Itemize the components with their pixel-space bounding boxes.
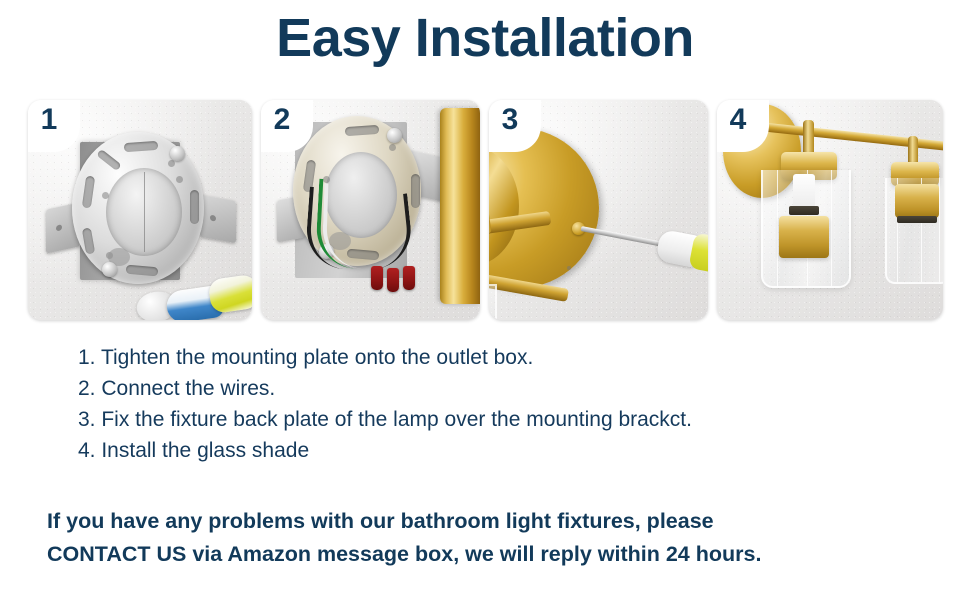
bulb-gold-body-right — [895, 184, 939, 218]
step-badge-number: 1 — [41, 105, 58, 135]
easy-installation-infographic: Easy Installation — [0, 0, 970, 600]
instructions-list: 1. Tighten the mounting plate onto the o… — [78, 342, 938, 466]
mounting-plate-1 — [66, 128, 218, 290]
step-panel-2: 2 — [261, 100, 480, 320]
step-panel-1: 1 — [28, 100, 252, 320]
wire-nut-icon — [387, 268, 399, 292]
socket-band-dark — [789, 206, 819, 215]
plate-slot — [126, 265, 159, 277]
screw-icon — [170, 146, 185, 161]
contact-note-line-2: CONTACT US via Amazon message box, we wi… — [47, 538, 937, 571]
glass-highlight — [777, 170, 778, 286]
screwdriver-grip-yellow — [208, 274, 252, 314]
step-badge-4: 4 — [717, 100, 769, 152]
instruction-line-3: 3. Fix the fixture back plate of the lam… — [78, 404, 938, 435]
contact-note: If you have any problems with our bathro… — [47, 505, 937, 571]
page-title: Easy Installation — [0, 6, 970, 72]
step-badge-2: 2 — [261, 100, 313, 152]
plate-slot — [190, 190, 199, 224]
step-badge-number: 3 — [502, 105, 519, 135]
instruction-line-2: 2. Connect the wires. — [78, 373, 938, 404]
plate-hole-dot — [168, 160, 175, 167]
wire-nut-icon — [371, 266, 383, 290]
contact-note-line-1: If you have any problems with our bathro… — [47, 505, 937, 538]
plate-slot — [82, 227, 95, 254]
steps-image-gallery: 1 — [28, 100, 944, 320]
plate-center-hole-1 — [106, 168, 182, 256]
instruction-line-1: 1. Tighten the mounting plate onto the o… — [78, 342, 938, 373]
gold-fixture-cylinder — [440, 108, 480, 304]
step-badge-1: 1 — [28, 100, 80, 152]
socket-band-dark — [897, 216, 937, 223]
plate-slot — [82, 176, 95, 209]
screw-icon — [387, 128, 402, 143]
bulb-base-white — [793, 174, 815, 208]
plate-slot — [96, 149, 121, 171]
plate-slot — [124, 141, 159, 152]
wall-mark-dot — [567, 266, 571, 270]
step-badge-number: 2 — [274, 105, 291, 135]
bracket-ear-right-icon — [200, 195, 236, 243]
step-panel-3: 3 — [489, 100, 708, 320]
plate-hole-dot — [102, 192, 109, 199]
glass-highlight — [831, 170, 832, 286]
instruction-line-4: 4. Install the glass shade — [78, 435, 938, 466]
bulb-gold-body-left — [779, 216, 829, 258]
step-badge-3: 3 — [489, 100, 541, 152]
plate-slot — [411, 174, 420, 208]
glass-shade-partial — [489, 284, 497, 320]
screw-icon — [102, 262, 117, 277]
step-panel-4: 4 — [717, 100, 943, 320]
plate-hole-dot — [389, 144, 396, 151]
step-badge-number: 4 — [730, 105, 747, 135]
plate-hole-dot — [176, 176, 183, 183]
wire-nut-icon — [403, 266, 415, 290]
plate-slot — [345, 125, 380, 136]
glass-highlight — [939, 178, 940, 282]
